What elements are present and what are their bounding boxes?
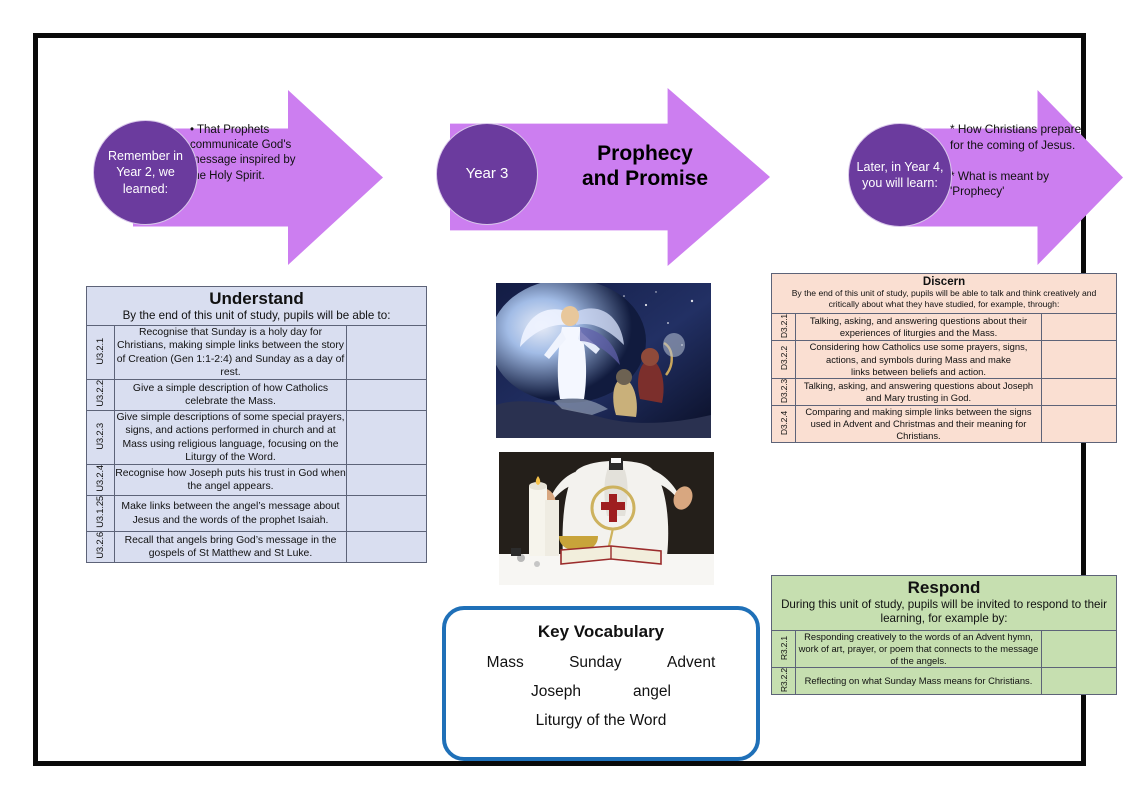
vocabulary-word: Advent — [667, 654, 715, 672]
page-frame: • That Prophets communicate God's messag… — [33, 33, 1086, 766]
understand-heading-cell: UnderstandBy the end of this unit of stu… — [87, 287, 427, 326]
table-row: D3.2.4Comparing and making simple links … — [772, 405, 1117, 442]
prior-learning-text: • That Prophets communicate God's messag… — [190, 123, 310, 184]
outcome-code: U3.2.6 — [87, 531, 115, 562]
table-row: U3.2.4Recognise how Joseph puts his trus… — [87, 465, 427, 496]
outcome-tick-box[interactable] — [347, 465, 427, 496]
outcome-statement: Talking, asking, and answering questions… — [796, 314, 1042, 341]
angel-appearing-to-shepherds-image — [496, 283, 711, 438]
table-row: U3.2.1Recognise that Sunday is a holy da… — [87, 326, 427, 380]
outcome-statement: Give a simple description of how Catholi… — [115, 380, 347, 411]
future-learning-text: * How Christians prepare for the coming … — [950, 122, 1090, 200]
outcome-tick-box[interactable] — [1042, 405, 1117, 442]
unit-title: Prophecy and Promise — [535, 142, 755, 192]
outcome-tick-box[interactable] — [347, 496, 427, 532]
outcome-code-label: U3.2.4 — [95, 465, 106, 492]
respond-table: RespondDuring this unit of study, pupils… — [771, 575, 1117, 695]
outcome-code-label: U3.1.25 — [95, 496, 106, 528]
outcome-code: U3.2.3 — [87, 411, 115, 465]
outcome-statement: Recall that angels bring God’s message i… — [115, 531, 347, 562]
outcome-code: R3.2.1 — [772, 630, 796, 667]
table-row: R3.2.2Reflecting on what Sunday Mass mea… — [772, 668, 1117, 695]
outcome-code: D3.2.3 — [772, 378, 796, 405]
key-vocabulary-box: Key Vocabulary Mass Sunday Advent Joseph… — [442, 606, 760, 761]
table-row: U3.2.2Give a simple description of how C… — [87, 380, 427, 411]
priest-celebrating-mass-image — [499, 452, 714, 585]
outcome-code: D3.2.1 — [772, 314, 796, 341]
year-group-circle: Year 3 — [436, 123, 538, 225]
outcome-statement: Talking, asking, and answering questions… — [796, 378, 1042, 405]
vocabulary-word: Joseph — [531, 683, 581, 701]
table-row: D3.2.1Talking, asking, and answering que… — [772, 314, 1117, 341]
outcome-code-label: U3.2.1 — [95, 338, 106, 365]
outcome-code-label: U3.2.3 — [95, 423, 106, 450]
understand-heading: Understand — [87, 287, 426, 309]
outcome-tick-box[interactable] — [1042, 630, 1117, 667]
vocabulary-word: Mass — [487, 654, 524, 672]
vocabulary-word: Liturgy of the Word — [536, 712, 667, 730]
outcome-code-label: D3.2.3 — [779, 379, 789, 403]
understand-table: UnderstandBy the end of this unit of stu… — [86, 286, 427, 563]
outcome-tick-box[interactable] — [347, 380, 427, 411]
outcome-code: R3.2.2 — [772, 668, 796, 695]
outcome-code: U3.2.4 — [87, 465, 115, 496]
outcome-tick-box[interactable] — [1042, 668, 1117, 695]
vocabulary-word: Sunday — [569, 654, 622, 672]
discern-table: DiscernBy the end of this unit of study,… — [771, 273, 1117, 443]
outcome-code-label: U3.2.2 — [95, 380, 106, 407]
outcome-tick-box[interactable] — [1042, 378, 1117, 405]
outcome-code-label: R3.2.1 — [779, 636, 789, 660]
table-row: D3.2.3Talking, asking, and answering que… — [772, 378, 1117, 405]
outcome-code: D3.2.2 — [772, 341, 796, 378]
outcome-code-label: R3.2.2 — [779, 668, 789, 692]
respond-subheading: During this unit of study, pupils will b… — [772, 598, 1116, 630]
outcome-statement: Recognise how Joseph puts his trust in G… — [115, 465, 347, 496]
outcome-tick-box[interactable] — [347, 531, 427, 562]
outcome-tick-box[interactable] — [347, 326, 427, 380]
understand-heading-row: UnderstandBy the end of this unit of stu… — [87, 287, 427, 326]
discern-heading-row: DiscernBy the end of this unit of study,… — [772, 274, 1117, 314]
vocabulary-word: angel — [633, 683, 671, 701]
key-vocabulary-title: Key Vocabulary — [538, 622, 664, 642]
outcome-statement: Make links between the angel’s message a… — [115, 496, 347, 532]
table-row: D3.2.2Considering how Catholics use some… — [772, 341, 1117, 378]
understand-subheading: By the end of this unit of study, pupils… — [87, 309, 426, 325]
table-row: U3.2.3Give simple descriptions of some s… — [87, 411, 427, 465]
outcome-statement: Responding creatively to the words of an… — [796, 630, 1042, 667]
outcome-tick-box[interactable] — [1042, 314, 1117, 341]
table-row: R3.2.1Responding creatively to the words… — [772, 630, 1117, 667]
outcome-code-label: D3.2.4 — [779, 411, 789, 435]
outcome-tick-box[interactable] — [347, 411, 427, 465]
outcome-statement: Give simple descriptions of some special… — [115, 411, 347, 465]
respond-heading-row: RespondDuring this unit of study, pupils… — [772, 576, 1117, 631]
vocabulary-row-2: Joseph angel — [446, 683, 756, 701]
outcome-code: U3.2.1 — [87, 326, 115, 380]
discern-heading: Discern — [772, 274, 1116, 288]
outcome-code: U3.1.25 — [87, 496, 115, 532]
outcome-statement: Considering how Catholics use some praye… — [796, 341, 1042, 378]
future-learning-circle: Later, in Year 4, you will learn: — [848, 123, 952, 227]
outcome-code-label: D3.2.2 — [779, 346, 789, 370]
respond-heading: Respond — [772, 576, 1116, 598]
vocabulary-row-1: Mass Sunday Advent — [446, 654, 756, 672]
vocabulary-row-3: Liturgy of the Word — [446, 712, 756, 730]
prior-learning-circle: Remember in Year 2, we learned: — [93, 120, 198, 225]
outcome-code-label: U3.2.6 — [95, 532, 106, 559]
poster-canvas: • That Prophets communicate God's messag… — [38, 38, 1081, 761]
outcome-statement: Recognise that Sunday is a holy day for … — [115, 326, 347, 380]
outcome-code: D3.2.4 — [772, 405, 796, 442]
discern-heading-cell: DiscernBy the end of this unit of study,… — [772, 274, 1117, 314]
table-row: U3.1.25Make links between the angel’s me… — [87, 496, 427, 532]
respond-heading-cell: RespondDuring this unit of study, pupils… — [772, 576, 1117, 631]
outcome-statement: Reflecting on what Sunday Mass means for… — [796, 668, 1042, 695]
outcome-tick-box[interactable] — [1042, 341, 1117, 378]
table-row: U3.2.6Recall that angels bring God’s mes… — [87, 531, 427, 562]
outcome-statement: Comparing and making simple links betwee… — [796, 405, 1042, 442]
outcome-code-label: D3.2.1 — [779, 314, 789, 338]
discern-subheading: By the end of this unit of study, pupils… — [772, 288, 1116, 313]
outcome-code: U3.2.2 — [87, 380, 115, 411]
